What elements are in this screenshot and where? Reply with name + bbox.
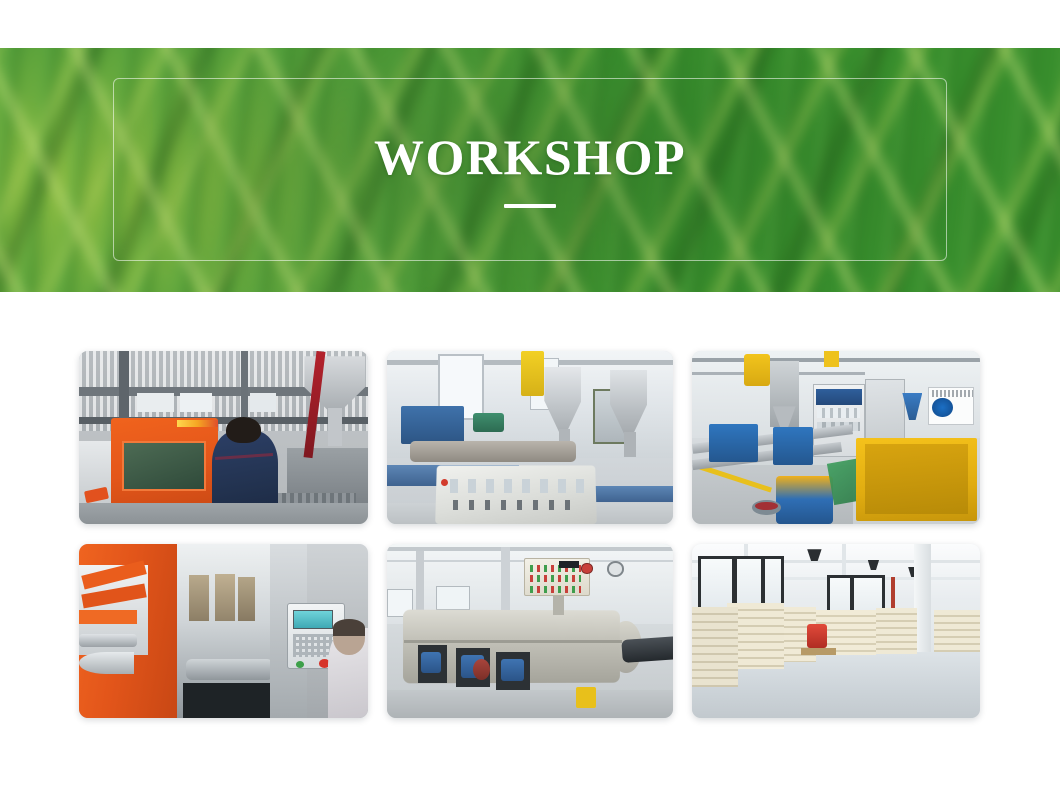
gallery-item-2[interactable]: Plastic extrusion production line with m… <box>387 351 673 524</box>
gallery-item-6[interactable]: Bright warehouse with pallets of stacked… <box>692 544 980 718</box>
title-underline-accent <box>504 204 556 208</box>
gallery-item-3[interactable]: 06 Blue extrusion machinery with yellow … <box>692 351 980 524</box>
workshop-photo-gallery: Worker in dark blue uniform operating an… <box>79 351 981 718</box>
gallery-item-1[interactable]: Worker in dark blue uniform operating an… <box>79 351 368 524</box>
gallery-item-4[interactable]: Operator at an HMI touchscreen controlle… <box>79 544 368 718</box>
workshop-photo-5-image <box>387 544 673 718</box>
gallery-item-5[interactable]: Large pipe vacuum cooling tank with push… <box>387 544 673 718</box>
hero-banner: WORKSHOP <box>0 48 1060 292</box>
workshop-photo-3-image: 06 <box>692 351 980 524</box>
workshop-photo-2-image <box>387 351 673 524</box>
workshop-photo-4-image <box>79 544 368 718</box>
emergency-stop-button-icon <box>581 563 592 573</box>
station-sign-badge-icon <box>932 398 952 417</box>
workshop-page: WORKSHOP <box>0 0 1060 791</box>
page-title: WORKSHOP <box>374 132 686 182</box>
hero-border-frame: WORKSHOP <box>113 78 947 261</box>
workshop-photo-1-image <box>79 351 368 524</box>
hmi-screen <box>293 610 333 629</box>
workshop-photo-6-image <box>692 544 980 718</box>
